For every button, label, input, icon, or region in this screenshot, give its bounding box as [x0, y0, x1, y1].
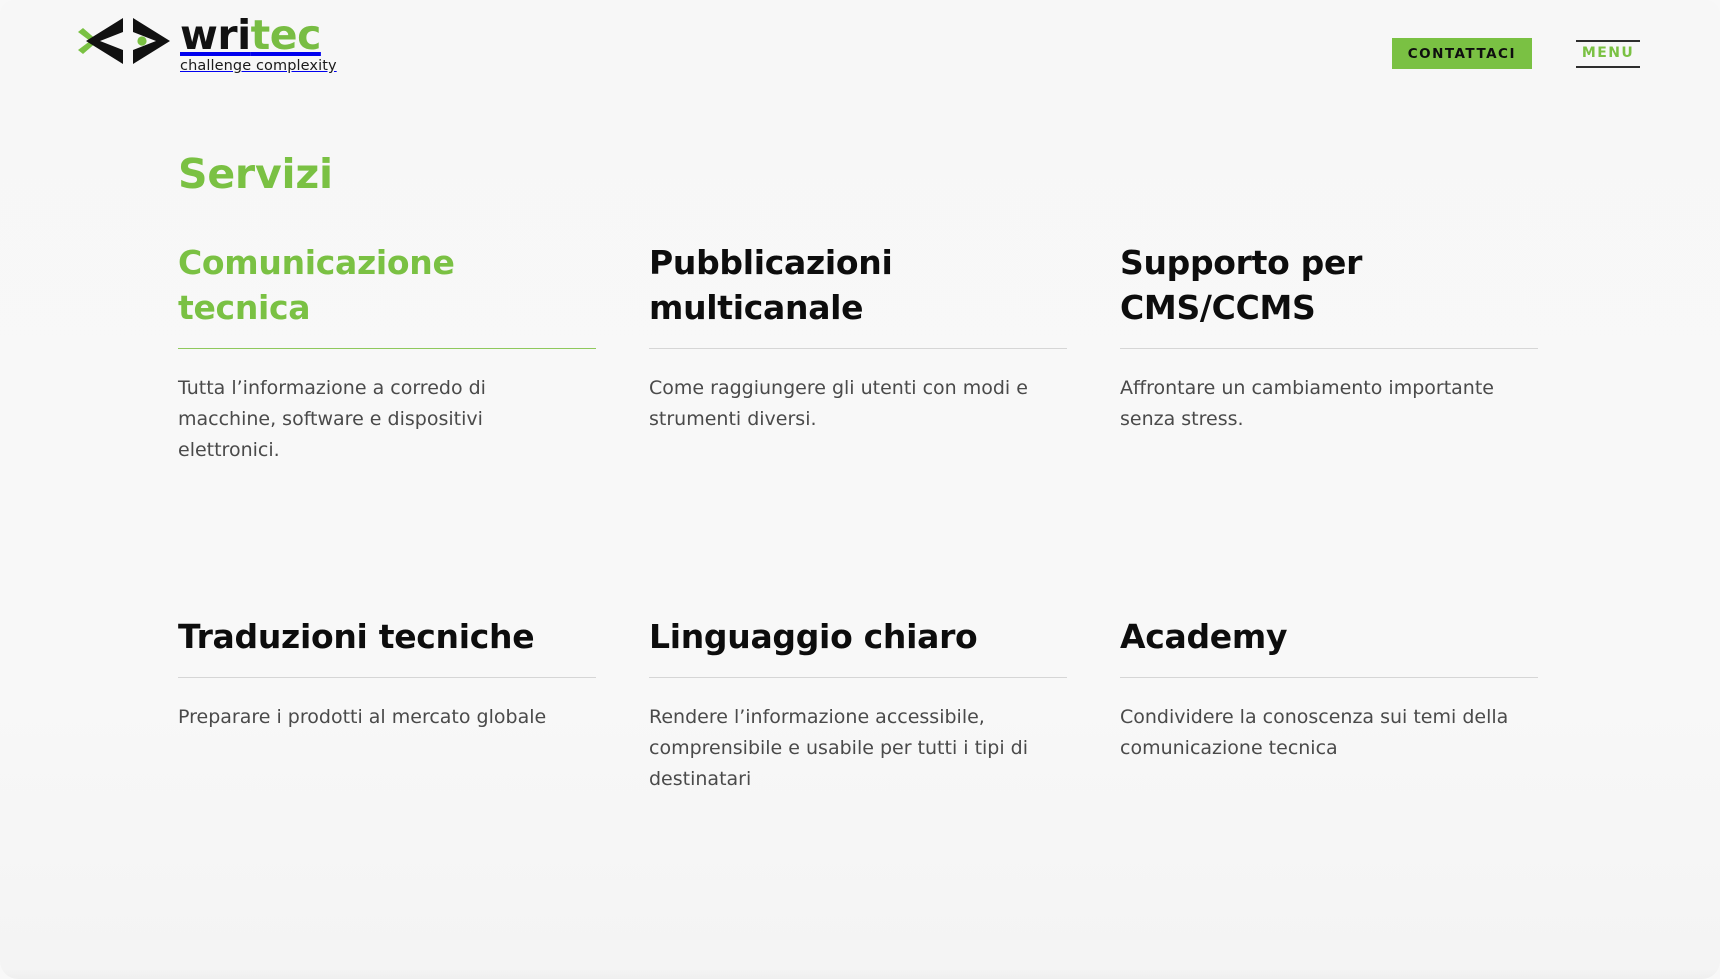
service-card-description: Affrontare un cambiamento importante sen…	[1120, 373, 1520, 435]
service-card-divider	[178, 348, 596, 349]
service-card-title: Supporto per CMS/CCMS	[1120, 240, 1538, 330]
service-card-description: Rendere l’informazione accessibile, comp…	[649, 702, 1049, 795]
logo-text-block: writec challenge complexity	[180, 14, 337, 75]
service-card-traduzioni-tecniche[interactable]: Traduzioni tecniche Preparare i prodotti…	[178, 466, 596, 795]
service-card-description: Preparare i prodotti al mercato globale	[178, 702, 578, 733]
service-card-divider	[649, 677, 1067, 678]
menu-toggle-label: MENU	[1576, 42, 1640, 66]
service-card-description: Come raggiungere gli utenti con modi e s…	[649, 373, 1049, 435]
service-card-divider	[1120, 348, 1538, 349]
logo-wordmark-dark: wri	[180, 11, 251, 59]
service-card-title: Linguaggio chiaro	[649, 614, 1067, 659]
page-title: Servizi	[178, 150, 1538, 198]
service-card-title: Academy	[1120, 614, 1538, 659]
service-card-title: Traduzioni tecniche	[178, 614, 596, 659]
service-card-divider	[649, 348, 1067, 349]
service-card-divider	[178, 677, 596, 678]
service-card-pubblicazioni-multicanale[interactable]: Pubblicazioni multicanale Come raggiunge…	[649, 230, 1067, 466]
menu-toggle-button[interactable]: MENU	[1576, 40, 1640, 68]
service-card-supporto-cms-ccms[interactable]: Supporto per CMS/CCMS Affrontare un camb…	[1120, 230, 1538, 466]
service-card-linguaggio-chiaro[interactable]: Linguaggio chiaro Rendere l’informazione…	[649, 466, 1067, 795]
service-card-academy[interactable]: Academy Condividere la conoscenza sui te…	[1120, 466, 1538, 795]
menu-bar-bottom-icon	[1576, 66, 1640, 68]
logo-tagline: challenge complexity	[180, 58, 337, 75]
service-card-comunicazione-tecnica[interactable]: Comunicazione tecnica Tutta l’informazio…	[178, 230, 596, 466]
service-card-title: Pubblicazioni multicanale	[649, 240, 1067, 330]
service-card-title: Comunicazione tecnica	[178, 240, 596, 330]
service-card-description: Tutta l’informazione a corredo di macchi…	[178, 373, 578, 466]
code-brackets-icon	[78, 15, 178, 67]
header-actions: CONTATTACI MENU	[1392, 38, 1640, 69]
service-card-description: Condividere la conoscenza sui temi della…	[1120, 702, 1520, 764]
services-grid: Comunicazione tecnica Tutta l’informazio…	[178, 230, 1538, 795]
logo-wordmark-green: tec	[251, 11, 321, 59]
site-header: writec challenge complexity CONTATTACI M…	[0, 0, 1720, 92]
site-logo[interactable]: writec challenge complexity	[78, 12, 337, 75]
contact-button[interactable]: CONTATTACI	[1392, 38, 1532, 69]
page-root: writec challenge complexity CONTATTACI M…	[0, 0, 1720, 979]
logo-wordmark: writec	[180, 14, 337, 57]
service-card-divider	[1120, 677, 1538, 678]
main-content: Servizi Comunicazione tecnica Tutta l’in…	[178, 150, 1538, 795]
